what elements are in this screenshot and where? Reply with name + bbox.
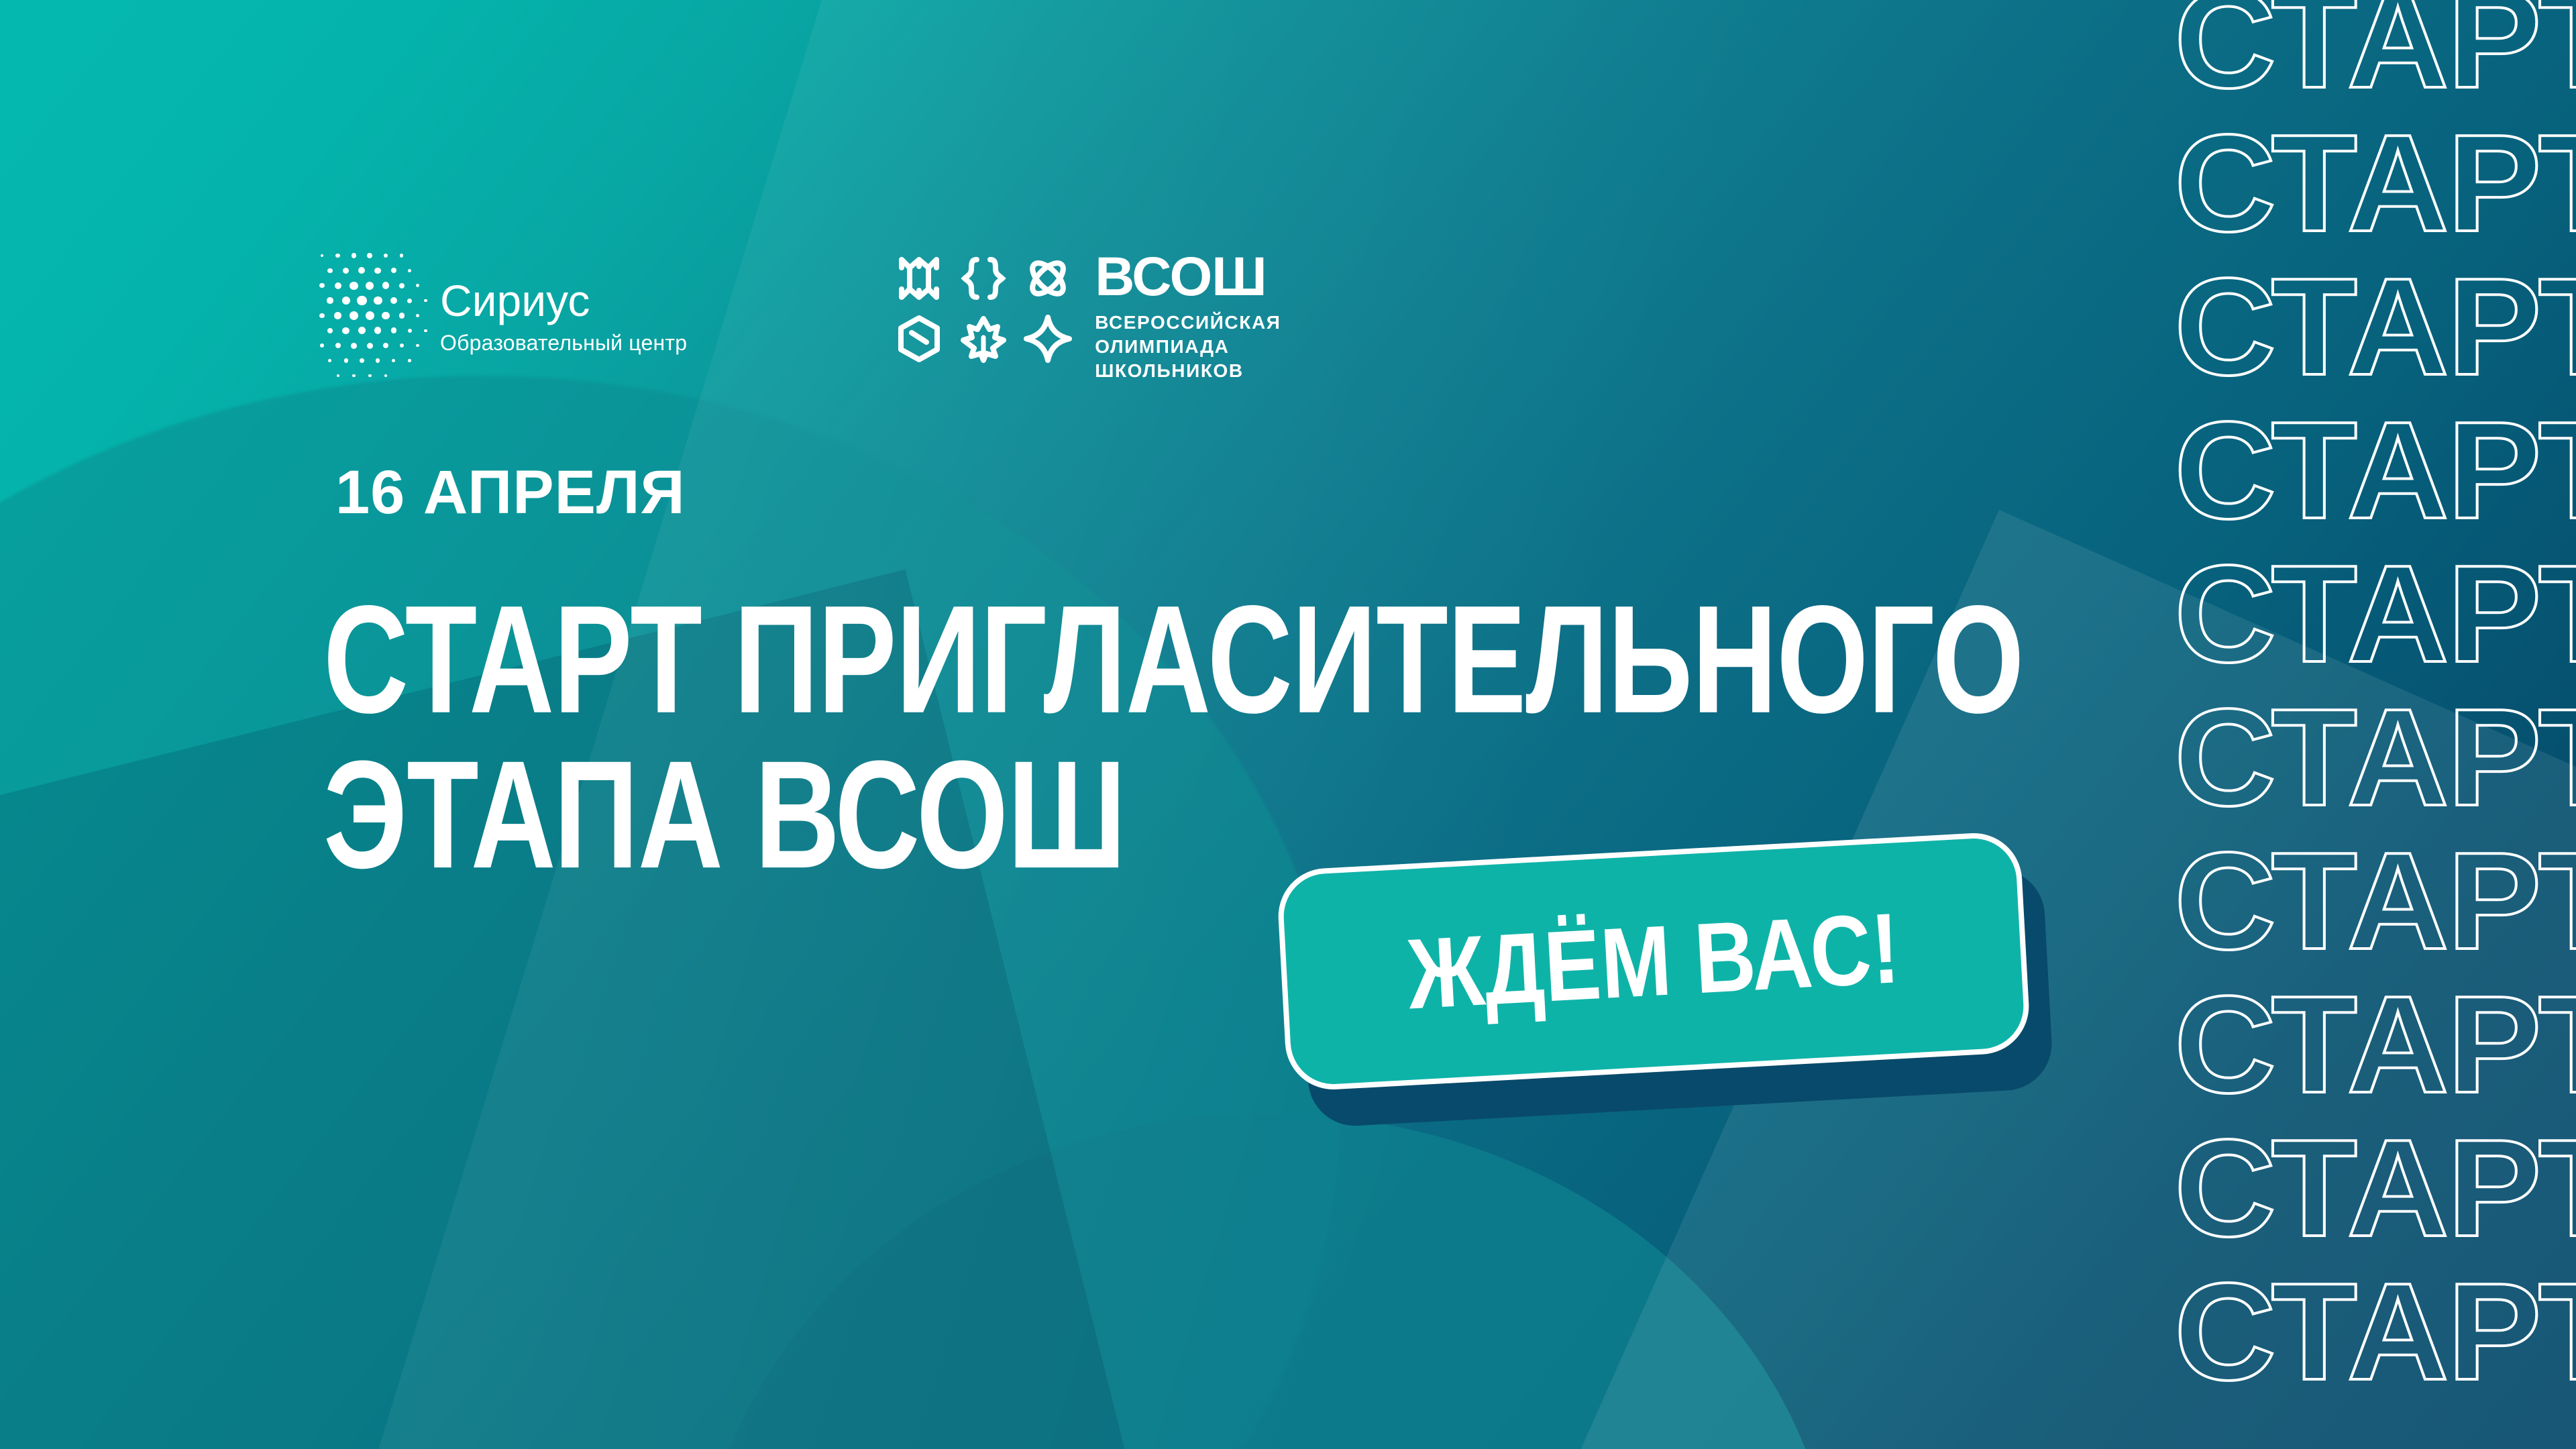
cta-container: ЖДЁМ ВАС! [1281, 851, 2073, 1119]
chromosome-x-icon [895, 254, 943, 303]
vosh-title: ВСОШ [1095, 252, 1281, 303]
pattern-row: СТАРТ [1885, 0, 2576, 111]
cta-button-label: ЖДЁМ ВАС! [1405, 898, 1902, 1024]
vosh-subtitle-line: ШКОЛЬНИКОВ [1095, 359, 1281, 383]
sirius-dot-cloud-icon [321, 254, 423, 381]
vosh-subtitle-line: ВСЕРОССИЙСКАЯ [1095, 311, 1281, 335]
hexagon-molecule-icon [895, 315, 943, 363]
maple-leaf-icon [959, 315, 1008, 363]
sirius-logo-text: Сириус Образовательный центр [440, 278, 687, 356]
sirius-name: Сириус [440, 278, 687, 323]
vosh-subtitle-line: ОЛИМПИАДА [1095, 335, 1281, 359]
pattern-row: СТАРТ [1885, 398, 2576, 542]
vosh-subtitle: ВСЕРОССИЙСКАЯ ОЛИМПИАДА ШКОЛЬНИКОВ [1095, 311, 1281, 383]
vosh-icon-grid [895, 254, 1072, 363]
cta-button[interactable]: ЖДЁМ ВАС! [1276, 830, 2031, 1092]
logo-row: Сириус Образовательный центр [321, 252, 1281, 383]
pattern-row: СТАРТ [1885, 111, 2576, 255]
sirius-logo: Сириус Образовательный центр [321, 254, 687, 381]
event-date: 16 АПРЕЛЯ [335, 462, 686, 523]
four-point-star-icon [1024, 315, 1072, 363]
pattern-row: СТАРТ [1885, 1260, 2576, 1403]
pattern-row: СТАРТ [1885, 1116, 2576, 1260]
vosh-logo-text: ВСОШ ВСЕРОССИЙСКАЯ ОЛИМПИАДА ШКОЛЬНИКОВ [1095, 252, 1281, 383]
sirius-subtitle: Образовательный центр [440, 329, 687, 356]
headline-line-1: СТАРТ ПРИГЛАСИТЕЛЬНОГО [323, 574, 2024, 745]
pattern-row: СТАРТ [1885, 255, 2576, 398]
curly-braces-icon [959, 254, 1008, 303]
vosh-logo: ВСОШ ВСЕРОССИЙСКАЯ ОЛИМПИАДА ШКОЛЬНИКОВ [895, 252, 1281, 383]
promo-banner: СТАРТ СТАРТ СТАРТ СТАРТ СТАРТ СТАРТ СТАР… [0, 0, 2576, 1449]
atom-orbit-icon [1024, 254, 1072, 303]
